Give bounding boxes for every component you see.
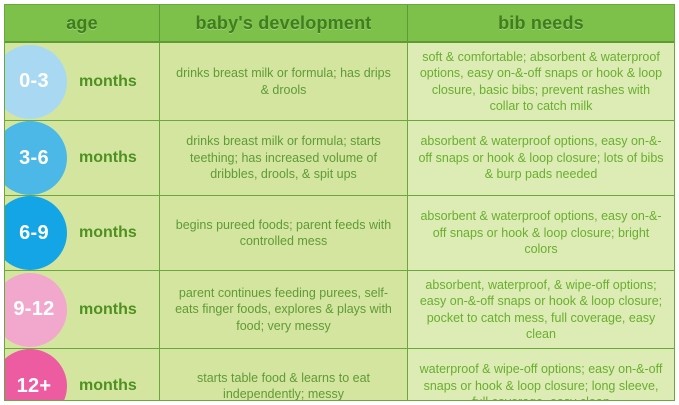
bib-needs-text: soft & comfortable; absorbent & waterpro… xyxy=(418,49,664,115)
development-text: drinks breast milk or formula; starts te… xyxy=(172,133,395,183)
development-cell: drinks breast milk or formula; has drips… xyxy=(160,43,408,120)
table-header-row: age baby's development bib needs xyxy=(5,5,674,43)
age-unit-label: months xyxy=(79,73,137,91)
age-badge-circle: 0-3 xyxy=(5,45,67,119)
age-bib-table: age baby's development bib needs 0-3 mon… xyxy=(4,4,675,401)
development-cell: begins pureed foods; parent feeds with c… xyxy=(160,196,408,270)
age-badge-label: 12+ xyxy=(17,375,52,398)
age-badge-label: 9-12 xyxy=(13,298,54,321)
bib-needs-text: waterproof & wipe-off options; easy on-&… xyxy=(418,361,664,401)
table-row: 3-6 months drinks breast milk or formula… xyxy=(5,121,674,196)
development-text: parent continues feeding purees, self-ea… xyxy=(172,285,395,335)
age-unit-label: months xyxy=(79,224,137,242)
bib-needs-text: absorbent & waterproof options, easy on-… xyxy=(418,133,664,183)
age-badge-circle: 6-9 xyxy=(5,196,67,270)
infographic-root: age baby's development bib needs 0-3 mon… xyxy=(0,0,679,405)
column-header-bib-needs: bib needs xyxy=(408,5,674,41)
age-cell: 6-9 months xyxy=(5,196,160,270)
bib-needs-cell: absorbent, waterproof, & wipe-off option… xyxy=(408,271,674,348)
development-text: begins pureed foods; parent feeds with c… xyxy=(172,217,395,250)
bib-needs-cell: absorbent & waterproof options, easy on-… xyxy=(408,121,674,195)
development-text: drinks breast milk or formula; has drips… xyxy=(172,65,395,98)
bib-needs-text: absorbent & waterproof options, easy on-… xyxy=(418,208,664,258)
table-row: 0-3 months drinks breast milk or formula… xyxy=(5,43,674,121)
table-row: 9-12 months parent continues feeding pur… xyxy=(5,271,674,349)
age-badge-circle: 9-12 xyxy=(5,273,67,347)
column-header-development: baby's development xyxy=(160,5,408,41)
development-cell: starts table food & learns to eat indepe… xyxy=(160,349,408,401)
column-header-age: age xyxy=(5,5,160,41)
development-cell: parent continues feeding purees, self-ea… xyxy=(160,271,408,348)
age-badge-circle: 3-6 xyxy=(5,121,67,195)
age-badge-label: 3-6 xyxy=(19,147,49,170)
age-cell: 0-3 months xyxy=(5,43,160,120)
age-cell: 12+ months xyxy=(5,349,160,401)
age-cell: 9-12 months xyxy=(5,271,160,348)
bib-needs-cell: waterproof & wipe-off options; easy on-&… xyxy=(408,349,674,401)
development-text: starts table food & learns to eat indepe… xyxy=(172,370,395,402)
age-badge-label: 6-9 xyxy=(19,222,49,245)
age-badge-label: 0-3 xyxy=(19,70,49,93)
table-row: 6-9 months begins pureed foods; parent f… xyxy=(5,196,674,271)
age-cell: 3-6 months xyxy=(5,121,160,195)
table-row: 12+ months starts table food & learns to… xyxy=(5,349,674,401)
bib-needs-text: absorbent, waterproof, & wipe-off option… xyxy=(418,277,664,343)
table-body: 0-3 months drinks breast milk or formula… xyxy=(5,43,674,401)
age-unit-label: months xyxy=(79,149,137,167)
age-unit-label: months xyxy=(79,301,137,319)
bib-needs-cell: soft & comfortable; absorbent & waterpro… xyxy=(408,43,674,120)
age-badge-circle: 12+ xyxy=(5,349,67,401)
development-cell: drinks breast milk or formula; starts te… xyxy=(160,121,408,195)
bib-needs-cell: absorbent & waterproof options, easy on-… xyxy=(408,196,674,270)
age-unit-label: months xyxy=(79,377,137,395)
